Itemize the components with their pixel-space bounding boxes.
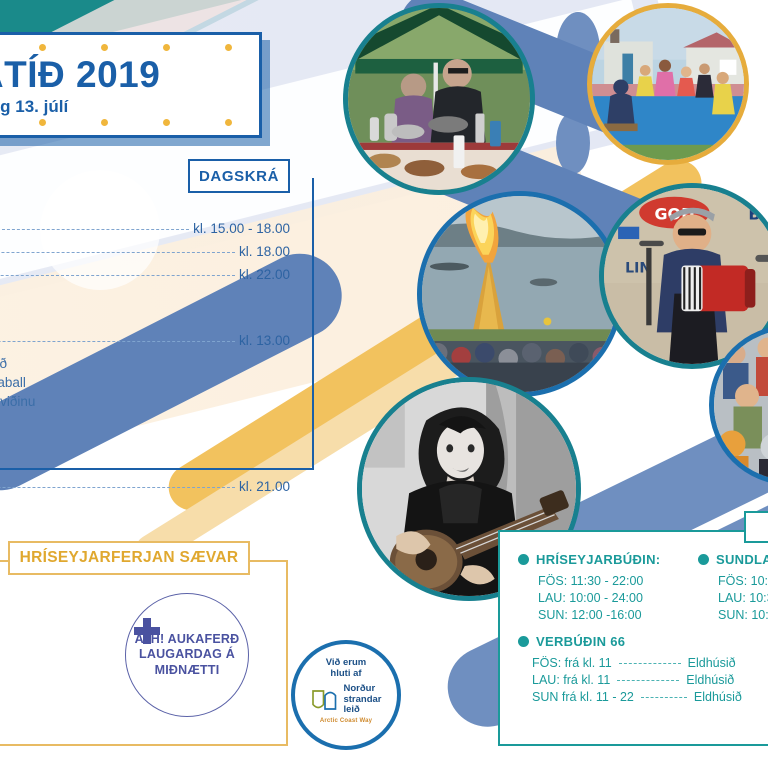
opening-hours-column-pool: SUNDLA FÖS: 10:3 LAU: 10:3 SUN: 10:3: [698, 552, 768, 625]
schedule-note: • Fjöruferð með Skralla trúð: [0, 413, 290, 428]
opening-hours-verbudin: VERBÚÐIN 66 FÖS: frá kl. 11 Eldhúsið LAU…: [518, 634, 768, 707]
svg-text:BOR: BOR: [748, 205, 768, 224]
schedule-note: í Íþróttamiðstöðinni • Gömludansaball: [0, 375, 290, 390]
schedule-note: augsson ásamt fleirum: [0, 502, 290, 517]
photo-accordion-player: GOÐ BOR LIN: [604, 188, 768, 364]
event-time: kl. 21.00: [239, 479, 290, 494]
title-dots-bottom: [0, 119, 259, 126]
ferry-timetable: 00 - 15.00 - 17.00 3.00 GANDI 30 - 15.30…: [0, 586, 114, 704]
festival-poster: GOÐ BOR LIN: [0, 0, 768, 768]
hours-row: SUN frá kl. 11 - 22 Eldhúsið: [532, 690, 768, 704]
event-time: kl. 15.00 - 18.00: [193, 221, 290, 236]
badge-brand-line-3: leið: [343, 705, 381, 715]
hours-row: LAU: 10:00 - 24:00: [538, 591, 698, 605]
photo-bonfire: [422, 196, 618, 392]
ferry-section-heading: GANDI: [0, 638, 114, 654]
opening-hours-column-shop: HRÍSEYJARBÚÐIN: FÖS: 11:30 - 22:00 LAU: …: [518, 552, 698, 625]
leader-dashes: [0, 228, 189, 230]
hours-row: LAU: 10:3: [718, 591, 768, 605]
hours-row: FÖS: frá kl. 11 Eldhúsið: [532, 656, 768, 670]
hours-row: SUN: 12:00 -16:00: [538, 608, 698, 622]
schedule-note: Pönnufótbolta • Tónlistaratriði á sviðin…: [0, 394, 290, 409]
opening-hours-tab-label: OPN: [744, 511, 768, 543]
schedule-note: pakstur dráttarvéla: [0, 432, 290, 447]
bullet-dot-icon: [698, 554, 709, 565]
badge-line-1: Við erum: [326, 657, 366, 668]
kitchen-label: Eldhúsið: [686, 673, 734, 687]
leader-dashes: [619, 662, 681, 664]
badge-tagline: Arctic Coast Way: [320, 718, 372, 724]
extra-trip-notice: ATH! AUKAFERÐ LAUGARDAG Á MIÐNÆTTI: [125, 593, 249, 717]
leader-dashes: [0, 274, 235, 276]
venue-name: VERBÚÐIN 66: [536, 634, 625, 649]
opening-hours-content: HRÍSEYJARBÚÐIN: FÖS: 11:30 - 22:00 LAU: …: [498, 530, 768, 742]
photo-grill-tent: [348, 8, 530, 190]
ferry-departure-row: 3.00: [0, 607, 114, 624]
page-subtitle: verður haldin 12. og 13. júlí: [0, 97, 249, 117]
ferry-departure-row: 00 - 15.00 - 17.00: [0, 586, 114, 603]
schedule-note: élagsins • Traktorsferðir um þorpið: [0, 356, 290, 371]
arctic-coast-way-badge: Við erum hluti af Norður strandar leið A…: [291, 640, 401, 750]
poster-title-banner: YJARHÁTÍÐ 2019 verður haldin 12. og 13. …: [0, 32, 262, 138]
schedule-event: kl. 15.00 - 18.00: [0, 221, 290, 236]
event-time: kl. 18.00: [239, 244, 290, 259]
schedule-note: rekkusöngur.: [0, 521, 290, 536]
leader-dashes: [641, 696, 687, 698]
arctic-coast-way-mark-icon: [310, 688, 340, 712]
hours-label: SUN frá kl. 11 - 22: [532, 690, 634, 704]
hours-row: FÖS: 11:30 - 22:00: [538, 574, 698, 588]
hours-row: SUN: 10:3: [718, 608, 768, 622]
schedule-event: a kl. 18.00: [0, 244, 290, 259]
ferry-departure-row: 3.30: [0, 683, 114, 700]
programme-tab-label: DAGSKRÁ: [188, 159, 290, 193]
ferry-tab-label: HRÍSEYJARFERJAN SÆVAR: [8, 541, 250, 575]
badge-line-2: hluti af: [330, 668, 361, 679]
saturday-heading: UR: [0, 304, 304, 325]
hours-row: LAU: frá kl. 11 Eldhúsið: [532, 673, 768, 687]
schedule-event: kl. 13.00: [0, 333, 290, 348]
schedule-event: Hjálmari Erni kl. 22.00: [0, 267, 290, 282]
schedule-event: kl. 21.00: [0, 479, 290, 494]
photo-playground-kids: [592, 8, 744, 160]
kitchen-label: Eldhúsið: [688, 656, 736, 670]
page-title: YJARHÁTÍÐ 2019: [0, 56, 249, 93]
friday-heading: R: [0, 192, 304, 213]
leader-dashes: [0, 340, 235, 342]
programme-schedule: R kl. 15.00 - 18.00 a kl. 18.00 Hjálmari…: [0, 186, 304, 540]
leader-dashes: [0, 251, 235, 253]
venue-name: SUNDLA: [716, 552, 768, 567]
bullet-dot-icon: [518, 636, 529, 647]
slate-blob-lower: [556, 112, 590, 174]
leader-dashes: [617, 679, 679, 681]
event-time: kl. 13.00: [239, 333, 290, 348]
plus-icon: [134, 618, 160, 644]
hours-label: FÖS: frá kl. 11: [532, 656, 612, 670]
venue-name: HRÍSEYJARBÚÐIN:: [536, 552, 660, 567]
hours-row: FÖS: 10:3: [718, 574, 768, 588]
kitchen-label: Eldhúsið: [694, 690, 742, 704]
hours-label: LAU: frá kl. 11: [532, 673, 610, 687]
bullet-dot-icon: [518, 554, 529, 565]
leader-dashes: [0, 486, 235, 488]
title-dots-top: [0, 44, 259, 51]
event-time: kl. 22.00: [239, 267, 290, 282]
ferry-departure-row: 30 - 15.30 - 17.30: [0, 662, 114, 679]
